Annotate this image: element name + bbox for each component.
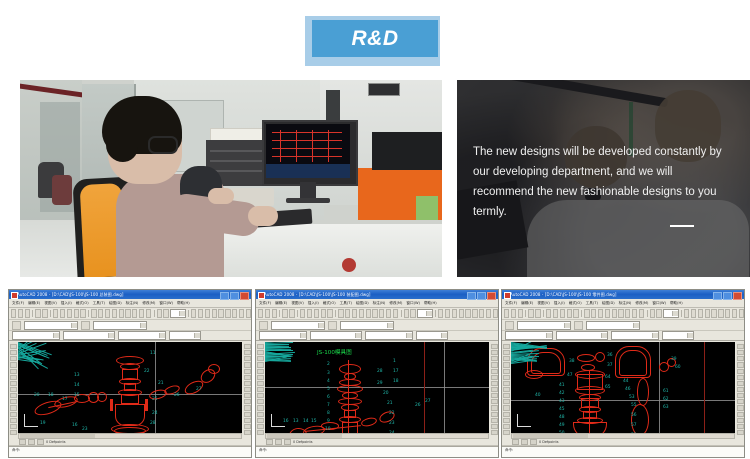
rectangle-icon[interactable]	[711, 309, 716, 318]
cad-1-toolbar-props[interactable]	[9, 331, 251, 341]
paste-icon[interactable]	[67, 309, 72, 318]
stretch-tool-icon[interactable]	[244, 393, 251, 398]
tab-layout2[interactable]	[530, 439, 537, 445]
cad-1-command-line[interactable]: 命令:	[9, 446, 251, 458]
print-icon[interactable]	[282, 309, 287, 318]
print-icon[interactable]	[35, 309, 40, 318]
lineweight-combo[interactable]	[118, 331, 166, 340]
menu-window[interactable]: 窗口(W)	[406, 299, 420, 307]
rectangle-tool-icon[interactable]	[257, 369, 264, 374]
make-current-icon[interactable]	[574, 321, 583, 330]
redo-icon[interactable]	[80, 309, 85, 318]
circle-tool-icon[interactable]	[10, 381, 17, 386]
make-current-icon[interactable]	[328, 321, 337, 330]
chamfer-tool-icon[interactable]	[491, 418, 498, 423]
line-tool-icon[interactable]	[503, 344, 510, 349]
dim-style-icon[interactable]	[410, 309, 415, 318]
maximize-icon[interactable]	[723, 292, 732, 300]
array-tool-icon[interactable]	[737, 369, 744, 374]
menu-draw[interactable]: 绘图(D)	[602, 299, 615, 307]
linetype-combo[interactable]	[556, 331, 608, 340]
menu-file[interactable]: 文件(F)	[259, 299, 271, 307]
menu-window[interactable]: 窗口(W)	[159, 299, 173, 307]
zoom-window-icon[interactable]	[352, 309, 357, 318]
minimize-icon[interactable]	[467, 292, 476, 300]
tab-layout2[interactable]	[284, 439, 291, 445]
menu-tools[interactable]: 工具(T)	[586, 299, 598, 307]
move-tool-icon[interactable]	[491, 375, 498, 380]
table-tool-icon[interactable]	[503, 430, 510, 435]
construction-line-tool-icon[interactable]	[10, 350, 17, 355]
properties-icon[interactable]	[366, 309, 371, 318]
text-style-icon[interactable]	[404, 309, 409, 318]
layer-combo[interactable]	[24, 321, 78, 330]
cad-2-toolbar-layers[interactable]	[256, 320, 498, 331]
point-tool-icon[interactable]	[10, 412, 17, 417]
erase-tool-icon[interactable]	[491, 344, 498, 349]
cad-3-command-line[interactable]: 命令:	[502, 446, 744, 458]
redo-icon[interactable]	[573, 309, 578, 318]
region-tool-icon[interactable]	[503, 424, 510, 429]
table-tool-icon[interactable]	[257, 430, 264, 435]
zoom-previous-icon[interactable]	[605, 309, 610, 318]
plot-preview-icon[interactable]	[289, 309, 294, 318]
undo-icon[interactable]	[321, 309, 326, 318]
minimize-icon[interactable]	[220, 292, 229, 300]
erase-tool-icon[interactable]	[244, 344, 251, 349]
cad-2-modify-toolbar[interactable]	[490, 342, 498, 435]
cad-2-canvas[interactable]: JS-100模具图	[265, 342, 489, 435]
ellipse-tool-icon[interactable]	[10, 399, 17, 404]
plotstyle-combo[interactable]	[662, 331, 694, 340]
cad-3-toolbar-layers[interactable]	[502, 320, 744, 331]
rectangle-icon[interactable]	[465, 309, 470, 318]
properties-icon[interactable]	[119, 309, 124, 318]
cut-icon[interactable]	[53, 309, 58, 318]
mirror-tool-icon[interactable]	[491, 356, 498, 361]
linetype-combo[interactable]	[310, 331, 362, 340]
lineweight-combo[interactable]	[365, 331, 413, 340]
erase-tool-icon[interactable]	[737, 344, 744, 349]
tab-layout1[interactable]	[275, 439, 282, 445]
copy-tool-icon[interactable]	[244, 350, 251, 355]
menu-edit[interactable]: 编辑(E)	[275, 299, 287, 307]
menu-insert[interactable]: 插入(I)	[308, 299, 319, 307]
rotate-tool-icon[interactable]	[737, 381, 744, 386]
open-icon[interactable]	[265, 309, 270, 318]
trim-tool-icon[interactable]	[244, 399, 251, 404]
toolpalette-icon[interactable]	[132, 309, 137, 318]
menu-help[interactable]: 帮助(H)	[424, 299, 437, 307]
help-icon[interactable]	[739, 309, 744, 318]
tab-model[interactable]	[512, 439, 519, 445]
maximize-icon[interactable]	[477, 292, 486, 300]
extend-tool-icon[interactable]	[244, 405, 251, 410]
cad-1-titlebar[interactable]: AutoCAD 2008 - [D:\CAD\JS-100\JS-100 总装图…	[9, 290, 251, 299]
copy-icon[interactable]	[307, 309, 312, 318]
revcloud-tool-icon[interactable]	[503, 387, 510, 392]
cad-3-window-buttons[interactable]	[713, 292, 742, 300]
offset-tool-icon[interactable]	[491, 362, 498, 367]
fillet-tool-icon[interactable]	[737, 424, 744, 429]
cad-2-toolbar-props[interactable]	[256, 331, 498, 341]
scale-tool-icon[interactable]	[737, 387, 744, 392]
mirror-tool-icon[interactable]	[737, 356, 744, 361]
menu-insert[interactable]: 插入(I)	[61, 299, 72, 307]
menu-file[interactable]: 文件(F)	[505, 299, 517, 307]
tab-layout1[interactable]	[521, 439, 528, 445]
menu-tools[interactable]: 工具(T)	[93, 299, 105, 307]
color-combo[interactable]	[259, 331, 307, 340]
circle-icon[interactable]	[452, 309, 457, 318]
circle-icon[interactable]	[698, 309, 703, 318]
cad-1-layout-tabs[interactable]: 0 Defpoints	[9, 439, 251, 446]
polyline-icon[interactable]	[691, 309, 696, 318]
undo-icon[interactable]	[74, 309, 79, 318]
menu-insert[interactable]: 插入(I)	[554, 299, 565, 307]
hatch-tool-icon[interactable]	[503, 418, 510, 423]
point-tool-icon[interactable]	[503, 412, 510, 417]
paste-icon[interactable]	[560, 309, 565, 318]
line-icon[interactable]	[438, 309, 443, 318]
designcenter-icon[interactable]	[372, 309, 377, 318]
arc-tool-icon[interactable]	[10, 375, 17, 380]
cad-1-menubar[interactable]: 文件(F) 编辑(E) 视图(V) 插入(I) 格式(O) 工具(T) 绘图(D…	[9, 299, 251, 308]
menu-view[interactable]: 视图(V)	[537, 299, 549, 307]
polygon-tool-icon[interactable]	[257, 362, 264, 367]
move-tool-icon[interactable]	[244, 375, 251, 380]
cad-3-layout-tabs[interactable]: 0 Defpoints	[502, 439, 744, 446]
array-tool-icon[interactable]	[491, 369, 498, 374]
tab-layout2[interactable]	[37, 439, 44, 445]
mirror-tool-icon[interactable]	[244, 356, 251, 361]
style-combo[interactable]	[417, 309, 432, 318]
open-icon[interactable]	[511, 309, 516, 318]
redo-icon[interactable]	[327, 309, 332, 318]
markup-icon[interactable]	[393, 309, 398, 318]
stretch-tool-icon[interactable]	[491, 393, 498, 398]
menu-tools[interactable]: 工具(T)	[340, 299, 352, 307]
style-combo[interactable]	[170, 309, 185, 318]
cad-1-modify-toolbar[interactable]	[243, 342, 251, 435]
tab-layout1[interactable]	[28, 439, 35, 445]
mtext-icon[interactable]	[732, 309, 737, 318]
open-icon[interactable]	[18, 309, 23, 318]
plotstyle-combo[interactable]	[169, 331, 201, 340]
text-style-icon[interactable]	[650, 309, 655, 318]
extend-tool-icon[interactable]	[737, 405, 744, 410]
circle-tool-icon[interactable]	[257, 381, 264, 386]
autocad-app-icon	[504, 292, 511, 299]
spline-tool-icon[interactable]	[10, 393, 17, 398]
menu-draw[interactable]: 绘图(D)	[356, 299, 369, 307]
dim-style-icon[interactable]	[656, 309, 661, 318]
cad-3-toolbar-main[interactable]	[502, 308, 744, 320]
sheetset-icon[interactable]	[632, 309, 637, 318]
save-icon[interactable]	[272, 309, 277, 318]
close-icon[interactable]	[240, 292, 249, 300]
pan-icon[interactable]	[91, 309, 96, 318]
rotate-tool-icon[interactable]	[244, 381, 251, 386]
layer-state-combo[interactable]	[93, 321, 147, 330]
circle-tool-icon[interactable]	[503, 381, 510, 386]
ucs-icon	[515, 413, 533, 429]
layer-manager-icon[interactable]	[12, 321, 21, 330]
hatch-tool-icon[interactable]	[257, 418, 264, 423]
cad-window-3[interactable]: AutoCAD 2008 - [D:\CAD\JS-100\JS-100 零件图…	[501, 289, 745, 458]
zoom-icon[interactable]	[345, 309, 350, 318]
mtext-icon[interactable]	[239, 309, 244, 318]
break-tool-icon[interactable]	[244, 412, 251, 417]
layer-manager-icon[interactable]	[259, 321, 268, 330]
dim-style-icon[interactable]	[163, 309, 168, 318]
new-icon[interactable]	[11, 309, 16, 318]
cad-2-hscrollbar[interactable]	[265, 433, 489, 439]
cad-2-command-line[interactable]: 命令:	[256, 446, 498, 458]
scale-tool-icon[interactable]	[491, 387, 498, 392]
polygon-tool-icon[interactable]	[10, 362, 17, 367]
print-icon[interactable]	[528, 309, 533, 318]
menu-format[interactable]: 格式(O)	[569, 299, 582, 307]
offset-tool-icon[interactable]	[244, 362, 251, 367]
lineweight-combo[interactable]	[611, 331, 659, 340]
rotate-tool-icon[interactable]	[491, 381, 498, 386]
cad-3-canvas[interactable]: 41 42 43 45 48 49 50 51 52 40 47 44 46 5…	[511, 342, 735, 435]
menu-help[interactable]: 帮助(H)	[670, 299, 683, 307]
point-tool-icon[interactable]	[257, 412, 264, 417]
hatch-icon[interactable]	[718, 309, 723, 318]
help-icon[interactable]	[246, 309, 251, 318]
plotstyle-combo[interactable]	[416, 331, 448, 340]
table-tool-icon[interactable]	[10, 430, 17, 435]
menu-draw[interactable]: 绘图(D)	[109, 299, 122, 307]
menu-edit[interactable]: 编辑(E)	[28, 299, 40, 307]
zoom-icon[interactable]	[98, 309, 103, 318]
help-icon[interactable]	[493, 309, 498, 318]
layer-state-combo[interactable]	[586, 321, 640, 330]
sheetset-icon[interactable]	[386, 309, 391, 318]
explode-tool-icon[interactable]	[737, 430, 744, 435]
undo-icon[interactable]	[567, 309, 572, 318]
linetype-combo[interactable]	[63, 331, 115, 340]
menu-format[interactable]: 格式(O)	[323, 299, 336, 307]
save-icon[interactable]	[518, 309, 523, 318]
layer-combo[interactable]	[517, 321, 571, 330]
toolpalette-icon[interactable]	[625, 309, 630, 318]
block-tool-icon[interactable]	[503, 405, 510, 410]
block-tool-icon[interactable]	[257, 405, 264, 410]
scale-tool-icon[interactable]	[244, 387, 251, 392]
construction-line-tool-icon[interactable]	[257, 350, 264, 355]
layer-combo[interactable]	[271, 321, 325, 330]
menu-file[interactable]: 文件(F)	[12, 299, 24, 307]
cad-3-toolbar-props[interactable]	[502, 331, 744, 341]
menu-dimension[interactable]: 标注(N)	[126, 299, 139, 307]
designcenter-icon[interactable]	[618, 309, 623, 318]
plot-preview-icon[interactable]	[42, 309, 47, 318]
ellipse-tool-icon[interactable]	[503, 399, 510, 404]
line-icon[interactable]	[684, 309, 689, 318]
chamfer-tool-icon[interactable]	[244, 418, 251, 423]
cad-window-2[interactable]: AutoCAD 2008 - [D:\CAD\JS-100\JS-100 装配图…	[255, 289, 499, 458]
menu-dimension[interactable]: 标注(N)	[619, 299, 632, 307]
copy-tool-icon[interactable]	[737, 350, 744, 355]
polyline-tool-icon[interactable]	[257, 356, 264, 361]
line-tool-icon[interactable]	[257, 344, 264, 349]
block-tool-icon[interactable]	[10, 405, 17, 410]
move-tool-icon[interactable]	[737, 375, 744, 380]
layer-manager-icon[interactable]	[505, 321, 514, 330]
cut-icon[interactable]	[300, 309, 305, 318]
revcloud-tool-icon[interactable]	[257, 387, 264, 392]
hatch-icon[interactable]	[472, 309, 477, 318]
polygon-tool-icon[interactable]	[503, 362, 510, 367]
save-icon[interactable]	[25, 309, 30, 318]
close-icon[interactable]	[487, 292, 496, 300]
rectangle-tool-icon[interactable]	[10, 369, 17, 374]
minimize-icon[interactable]	[713, 292, 722, 300]
extend-tool-icon[interactable]	[491, 405, 498, 410]
paste-icon[interactable]	[314, 309, 319, 318]
new-icon[interactable]	[504, 309, 509, 318]
text-style-icon[interactable]	[157, 309, 162, 318]
rectangle-icon[interactable]	[218, 309, 223, 318]
cad-1-draw-toolbar[interactable]	[9, 342, 17, 435]
polyline-icon[interactable]	[445, 309, 450, 318]
circle-icon[interactable]	[205, 309, 210, 318]
line-tool-icon[interactable]	[10, 344, 17, 349]
explode-tool-icon[interactable]	[491, 430, 498, 435]
cad-1-toolbar-layers[interactable]	[9, 320, 251, 331]
hatch-tool-icon[interactable]	[10, 418, 17, 423]
close-icon[interactable]	[733, 292, 742, 300]
cad-2-toolbar-main[interactable]	[256, 308, 498, 320]
region-tool-icon[interactable]	[257, 424, 264, 429]
zoom-window-icon[interactable]	[598, 309, 603, 318]
cad-3-hscrollbar[interactable]	[511, 433, 735, 439]
arc-icon[interactable]	[212, 309, 217, 318]
mtext-icon[interactable]	[486, 309, 491, 318]
cut-icon[interactable]	[546, 309, 551, 318]
menu-modify[interactable]: 修改(M)	[635, 299, 648, 307]
menu-dimension[interactable]: 标注(N)	[373, 299, 386, 307]
trim-tool-icon[interactable]	[491, 399, 498, 404]
menu-window[interactable]: 窗口(W)	[652, 299, 666, 307]
cad-1-body: 13 14 15 16 17 18 19 20 11 22 23 24 25 2…	[9, 341, 251, 439]
arc-icon[interactable]	[459, 309, 464, 318]
copy-tool-icon[interactable]	[491, 350, 498, 355]
cad-1-window-buttons[interactable]	[220, 292, 249, 300]
break-tool-icon[interactable]	[491, 412, 498, 417]
layer-state-combo[interactable]	[340, 321, 394, 330]
markup-icon[interactable]	[639, 309, 644, 318]
style-combo[interactable]	[663, 309, 678, 318]
block-icon[interactable]	[479, 309, 484, 318]
ellipse-tool-icon[interactable]	[257, 399, 264, 404]
maximize-icon[interactable]	[230, 292, 239, 300]
explode-tool-icon[interactable]	[244, 430, 251, 435]
menu-view[interactable]: 视图(V)	[44, 299, 56, 307]
arc-tool-icon[interactable]	[257, 375, 264, 380]
cad-1-toolbar-main[interactable]	[9, 308, 251, 320]
stretch-tool-icon[interactable]	[737, 393, 744, 398]
cad-2-window-buttons[interactable]	[467, 292, 496, 300]
cad-window-1[interactable]: AutoCAD 2008 - [D:\CAD\JS-100\JS-100 总装图…	[8, 289, 252, 458]
construction-line-tool-icon[interactable]	[503, 350, 510, 355]
markup-icon[interactable]	[146, 309, 151, 318]
copy-icon[interactable]	[553, 309, 558, 318]
zoom-previous-icon[interactable]	[359, 309, 364, 318]
color-combo[interactable]	[505, 331, 553, 340]
pan-icon[interactable]	[584, 309, 589, 318]
cad-3-menubar[interactable]: 文件(F) 编辑(E) 视图(V) 插入(I) 格式(O) 工具(T) 绘图(D…	[502, 299, 744, 308]
polyline-icon[interactable]	[198, 309, 203, 318]
trim-tool-icon[interactable]	[737, 399, 744, 404]
spline-tool-icon[interactable]	[257, 393, 264, 398]
designcenter-icon[interactable]	[125, 309, 130, 318]
make-current-icon[interactable]	[81, 321, 90, 330]
cad-3-modify-toolbar[interactable]	[736, 342, 744, 435]
menu-view[interactable]: 视图(V)	[291, 299, 303, 307]
fillet-tool-icon[interactable]	[491, 424, 498, 429]
menu-format[interactable]: 格式(O)	[76, 299, 89, 307]
properties-icon[interactable]	[612, 309, 617, 318]
block-icon[interactable]	[725, 309, 730, 318]
polyline-tool-icon[interactable]	[10, 356, 17, 361]
toolpalette-icon[interactable]	[379, 309, 384, 318]
cad-1-hscrollbar[interactable]	[18, 433, 242, 439]
spline-tool-icon[interactable]	[503, 393, 510, 398]
array-tool-icon[interactable]	[244, 369, 251, 374]
fillet-tool-icon[interactable]	[244, 424, 251, 429]
cad-2-titlebar[interactable]: AutoCAD 2008 - [D:\CAD\JS-100\JS-100 装配图…	[256, 290, 498, 299]
pan-icon[interactable]	[338, 309, 343, 318]
tab-model[interactable]	[266, 439, 273, 445]
cad-3-titlebar[interactable]: AutoCAD 2008 - [D:\CAD\JS-100\JS-100 零件图…	[502, 290, 744, 299]
tab-model[interactable]	[19, 439, 26, 445]
polyline-tool-icon[interactable]	[503, 356, 510, 361]
cad-2-draw-toolbar[interactable]	[256, 342, 264, 435]
chamfer-tool-icon[interactable]	[737, 418, 744, 423]
hatch-icon[interactable]	[225, 309, 230, 318]
revcloud-tool-icon[interactable]	[10, 387, 17, 392]
plot-preview-icon[interactable]	[535, 309, 540, 318]
zoom-window-icon[interactable]	[105, 309, 110, 318]
sheetset-icon[interactable]	[139, 309, 144, 318]
break-tool-icon[interactable]	[737, 412, 744, 417]
cad-3-draw-toolbar[interactable]	[502, 342, 510, 435]
line-icon[interactable]	[191, 309, 196, 318]
cad-2-menubar[interactable]: 文件(F) 编辑(E) 视图(V) 插入(I) 格式(O) 工具(T) 绘图(D…	[256, 299, 498, 308]
cad-1-canvas[interactable]: 13 14 15 16 17 18 19 20 11 22 23 24 25 2…	[18, 342, 242, 435]
menu-help[interactable]: 帮助(H)	[177, 299, 190, 307]
arc-icon[interactable]	[705, 309, 710, 318]
zoom-previous-icon[interactable]	[112, 309, 117, 318]
zoom-icon[interactable]	[591, 309, 596, 318]
region-tool-icon[interactable]	[10, 424, 17, 429]
cad-2-layout-tabs[interactable]: 0 Defpoints	[256, 439, 498, 446]
offset-tool-icon[interactable]	[737, 362, 744, 367]
block-icon[interactable]	[232, 309, 237, 318]
arc-tool-icon[interactable]	[503, 375, 510, 380]
copy-icon[interactable]	[60, 309, 65, 318]
new-icon[interactable]	[258, 309, 263, 318]
menu-modify[interactable]: 修改(M)	[389, 299, 402, 307]
color-combo[interactable]	[12, 331, 60, 340]
menu-edit[interactable]: 编辑(E)	[521, 299, 533, 307]
rectangle-tool-icon[interactable]	[503, 369, 510, 374]
menu-modify[interactable]: 修改(M)	[142, 299, 155, 307]
